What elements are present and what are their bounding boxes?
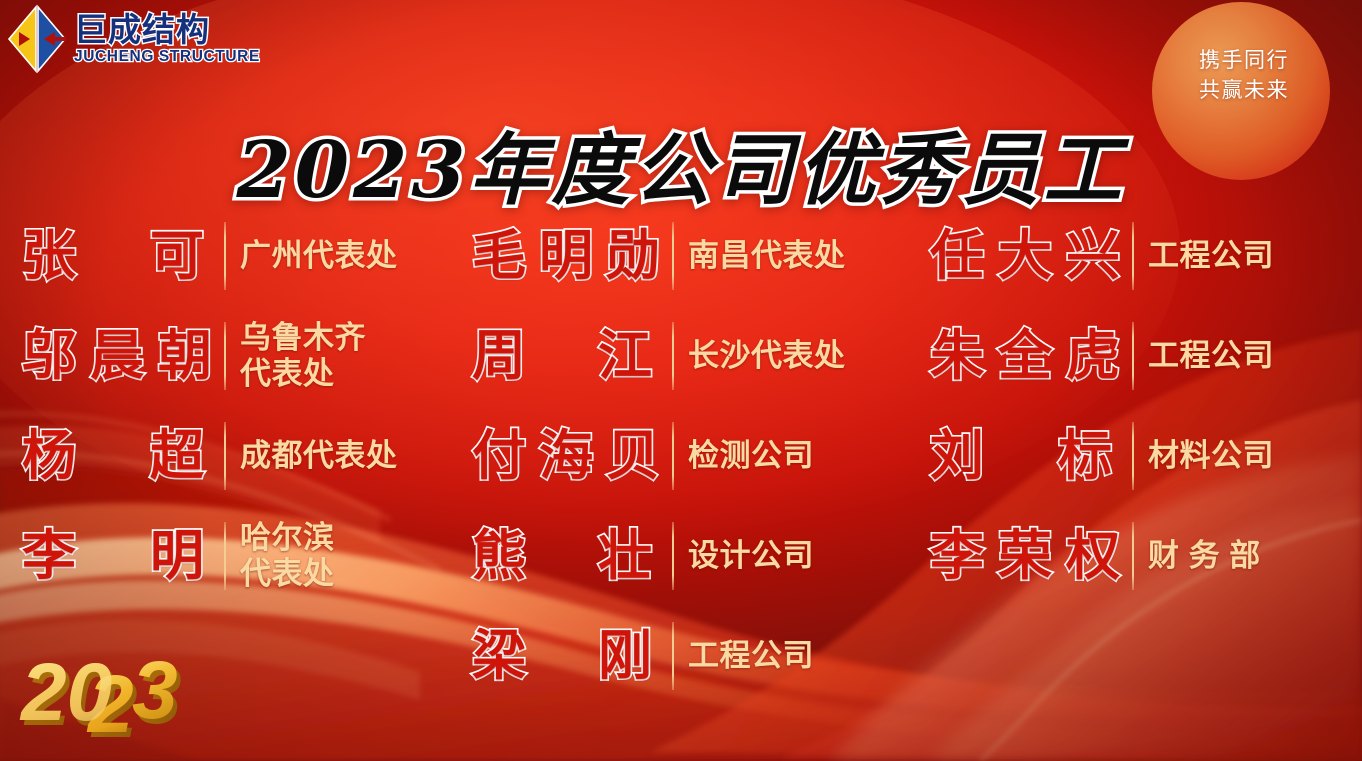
row-divider (672, 222, 674, 290)
honoree-department: 财 务 部 (1148, 538, 1362, 574)
honoree-department: 工程公司 (1148, 238, 1362, 274)
honoree-name: 任大兴 (930, 229, 1120, 283)
honoree-column-2: 毛明勋 南昌代表处 周江 长沙代表处 付海贝 检测公司 熊壮 设计公司 梁刚 (456, 206, 908, 726)
logo-chinese-name: 巨成结构 (74, 13, 260, 46)
logo-diamond-icon (6, 4, 68, 74)
honoree-department: 设计公司 (688, 538, 908, 574)
svg-text:3: 3 (132, 645, 178, 736)
row-divider (672, 622, 674, 690)
honoree-department: 工程公司 (688, 638, 908, 674)
honoree-row: 毛明勋 南昌代表处 (456, 206, 908, 306)
honoree-row: 张可 广州代表处 (0, 206, 456, 306)
company-logo[interactable]: 巨成结构 JUCHENG STRUCTURE (6, 4, 260, 74)
honoree-name: 朱全虎 (930, 329, 1120, 383)
honoree-row: 邬晨朝 乌鲁木齐 代表处 (0, 306, 456, 406)
honoree-department: 广州代表处 (240, 238, 456, 274)
honoree-name: 付海贝 (472, 429, 660, 483)
honoree-name: 毛明勋 (472, 229, 660, 283)
row-divider (224, 422, 226, 490)
honoree-row: 杨超 成都代表处 (0, 406, 456, 506)
honoree-row: 任大兴 工程公司 (908, 206, 1362, 306)
honoree-row: 李荣权 财 务 部 (908, 506, 1362, 606)
row-divider (224, 522, 226, 590)
row-divider (1132, 422, 1134, 490)
honoree-row: 周江 长沙代表处 (456, 306, 908, 406)
honoree-row: 熊壮 设计公司 (456, 506, 908, 606)
svg-text:20: 20 (19, 647, 112, 738)
row-divider (224, 222, 226, 290)
slogan-line-2: 共赢未来 (1178, 76, 1310, 106)
row-divider (1132, 222, 1134, 290)
honoree-department: 乌鲁木齐 代表处 (240, 320, 456, 392)
slogan-line-1: 携手同行 (1178, 46, 1310, 76)
honoree-row: 朱全虎 工程公司 (908, 306, 1362, 406)
row-divider (672, 422, 674, 490)
honoree-department: 检测公司 (688, 438, 908, 474)
logo-english-name: JUCHENG STRUCTURE (74, 49, 260, 65)
row-divider (224, 322, 226, 390)
honoree-name: 杨超 (22, 429, 212, 483)
row-divider (1132, 522, 1134, 590)
honoree-row: 刘标 材料公司 (908, 406, 1362, 506)
honoree-department: 成都代表处 (240, 438, 456, 474)
page-title: 2023年度公司优秀员工 (0, 108, 1362, 220)
honoree-name: 梁刚 (472, 629, 660, 683)
honoree-department: 材料公司 (1148, 438, 1362, 474)
honoree-name: 邬晨朝 (22, 329, 212, 383)
row-divider (672, 322, 674, 390)
honoree-name: 周江 (472, 329, 660, 383)
slogan-block: 携手同行 共赢未来 (1178, 46, 1310, 106)
honoree-department: 工程公司 (1148, 338, 1362, 374)
golden-2023-decoration: 20 2 3 20 3 2 20 (16, 636, 232, 748)
honoree-name: 李荣权 (930, 529, 1120, 583)
row-divider (672, 522, 674, 590)
honoree-column-3: 任大兴 工程公司 朱全虎 工程公司 刘标 材料公司 李荣权 财 务 部 (908, 206, 1362, 726)
honoree-row: 付海贝 检测公司 (456, 406, 908, 506)
honoree-name: 熊壮 (472, 529, 660, 583)
honoree-row: 梁刚 工程公司 (456, 606, 908, 706)
honoree-department: 长沙代表处 (688, 338, 908, 374)
honoree-name: 刘标 (930, 429, 1120, 483)
poster-canvas: 巨成结构 JUCHENG STRUCTURE 携手同行 共赢未来 2023年度公… (0, 0, 1362, 761)
honoree-department: 哈尔滨 代表处 (240, 520, 456, 592)
honoree-department: 南昌代表处 (688, 238, 908, 274)
honoree-name: 张可 (22, 229, 212, 283)
honoree-name: 李明 (22, 529, 212, 583)
honoree-row: 李明 哈尔滨 代表处 (0, 506, 456, 606)
row-divider (1132, 322, 1134, 390)
